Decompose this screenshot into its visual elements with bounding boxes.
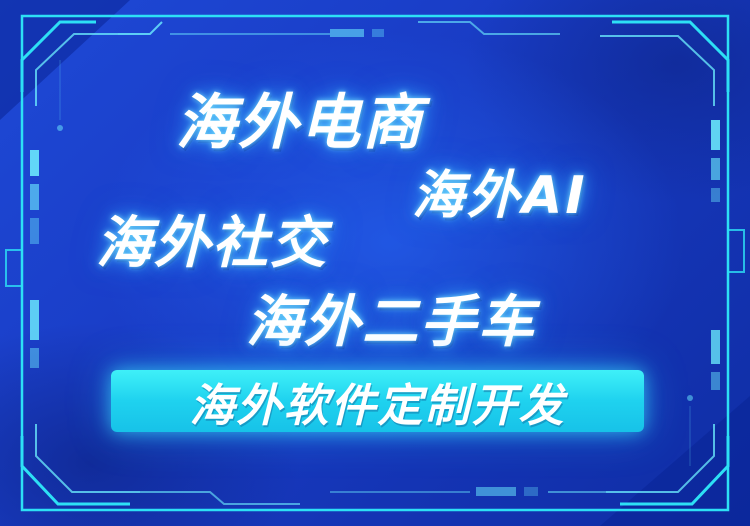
headline-overseas-ecommerce: 海外电商 [176, 74, 424, 161]
headline-group: 海外电商 海外AI 海外社交 海外二手车 海外软件定制开发 [0, 0, 750, 526]
headline-overseas-social: 海外社交 [96, 198, 328, 279]
headline-overseas-used-cars: 海外二手车 [246, 277, 536, 358]
cta-banner[interactable]: 海外软件定制开发 [111, 370, 644, 432]
poster-canvas: 海外电商 海外AI 海外社交 海外二手车 海外软件定制开发 [0, 0, 750, 526]
headline-overseas-ai: 海外AI [412, 153, 588, 228]
cta-banner-label: 海外软件定制开发 [111, 370, 644, 432]
